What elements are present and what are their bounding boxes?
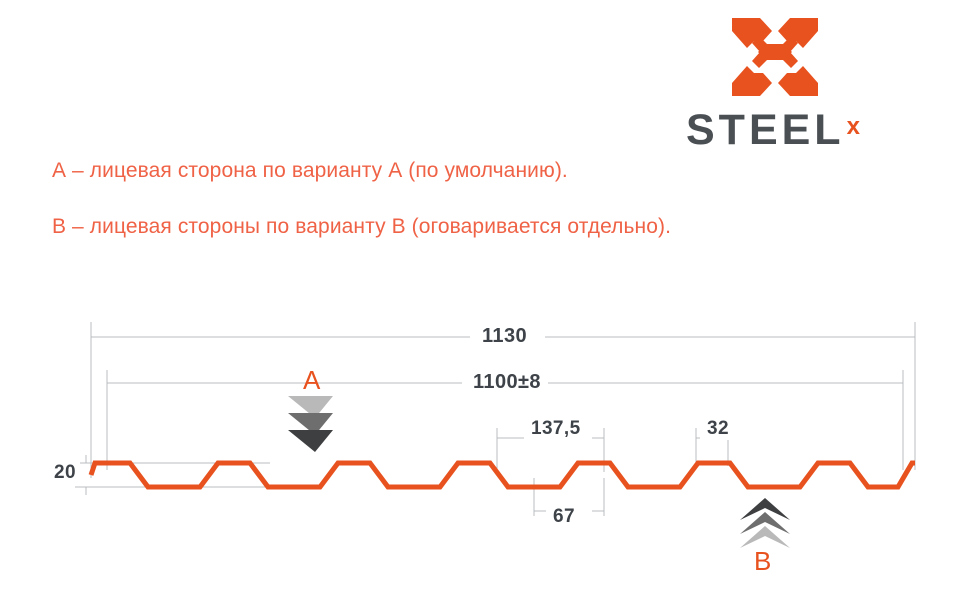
marker-letter-a: А [303, 365, 321, 396]
trapezoidal-profile-line [91, 463, 915, 487]
marker-a-chevrons [288, 396, 333, 452]
dimension-label-valley-width: 67 [546, 506, 582, 528]
dimension-label-profile-height: 20 [50, 462, 80, 484]
marker-b-chevrons [740, 498, 790, 548]
dimension-label-rib-crest-width: 32 [700, 418, 736, 440]
marker-letter-b: В [754, 546, 772, 577]
dimension-label-working-width: 1100±8 [466, 371, 548, 394]
dimension-label-total-width: 1130 [475, 325, 534, 348]
profile-technical-drawing [0, 0, 970, 597]
dimension-label-rib-pitch: 137,5 [524, 418, 588, 440]
